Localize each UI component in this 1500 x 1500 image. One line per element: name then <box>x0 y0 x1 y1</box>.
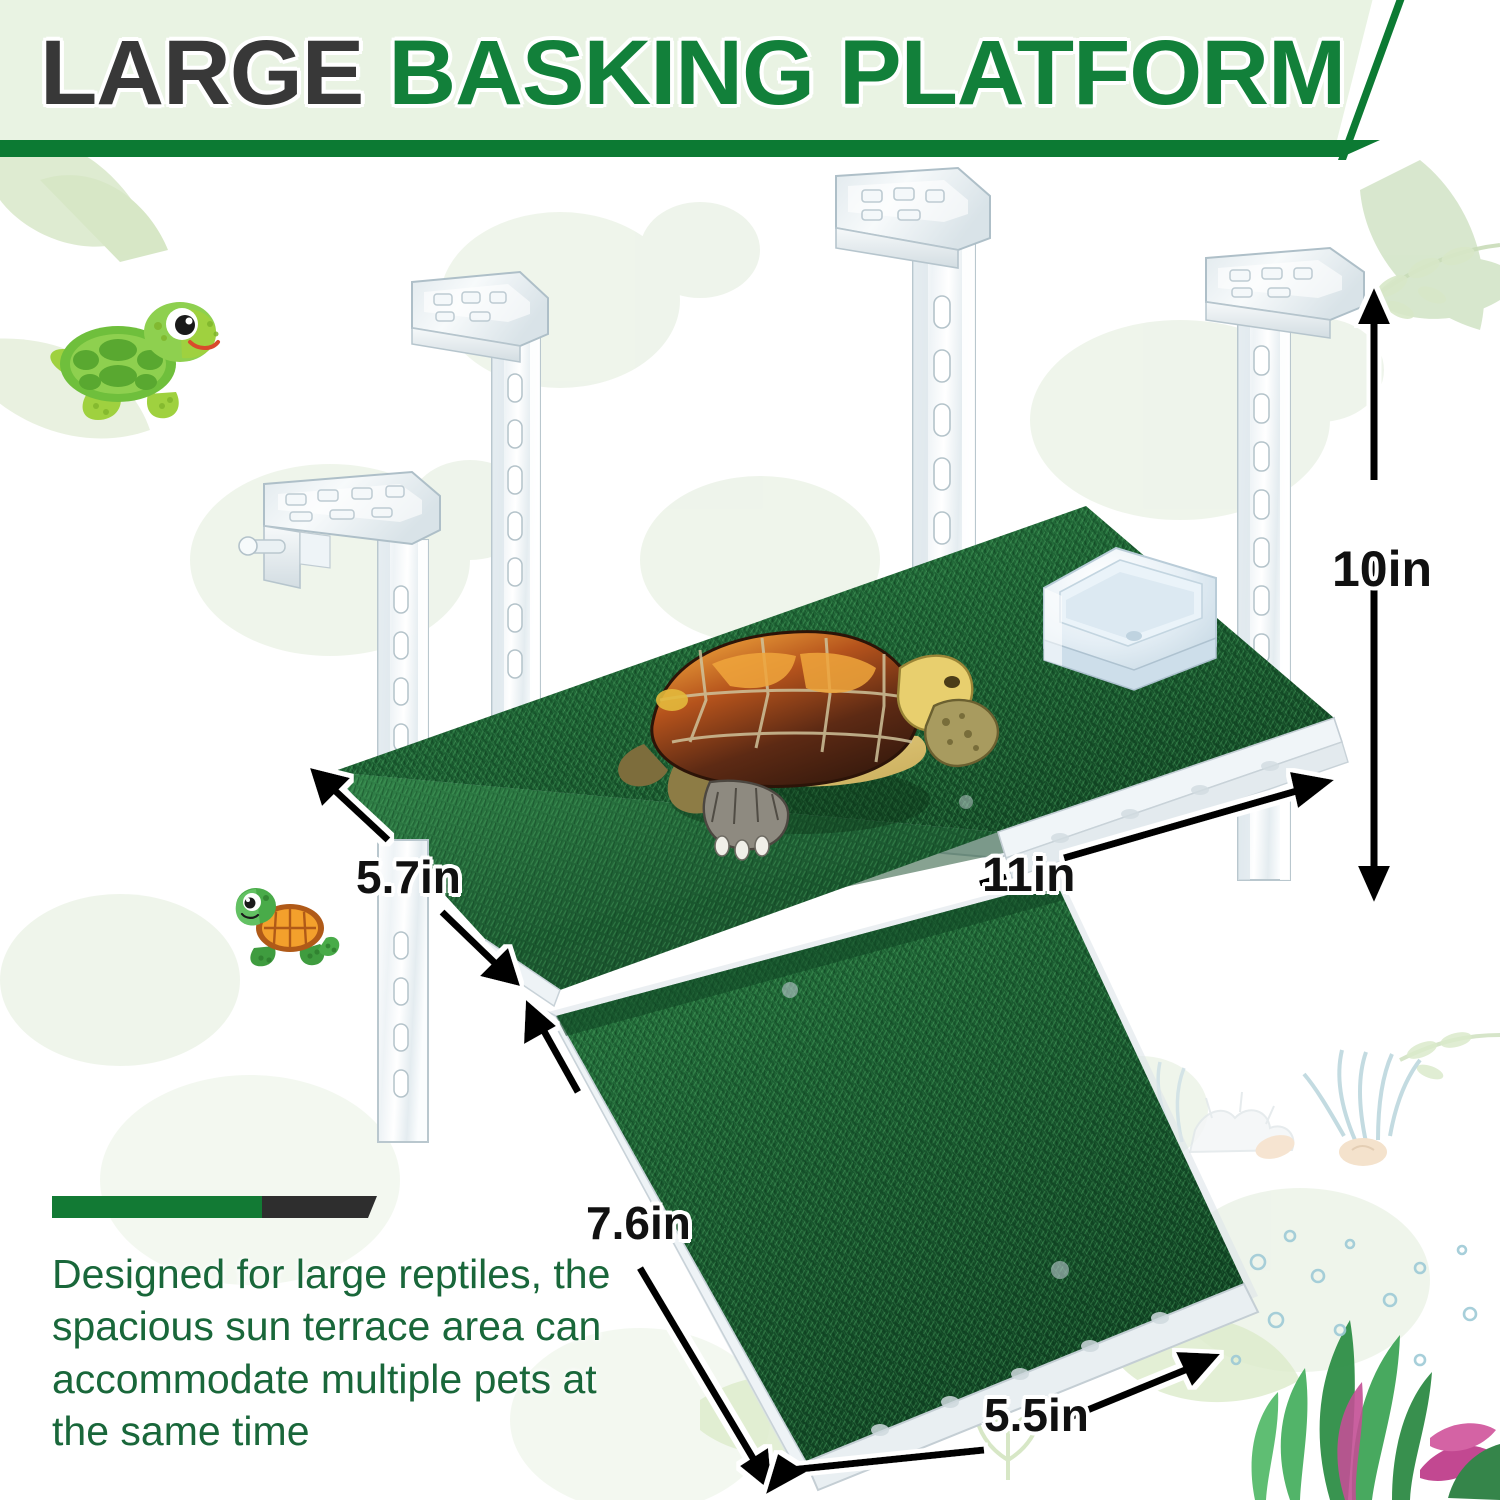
accent-bar-green <box>52 1196 262 1218</box>
dimension-label-height: 10in <box>1332 540 1432 598</box>
accent-bar-dark <box>262 1196 377 1218</box>
description-accent-bar <box>52 1196 377 1218</box>
dimension-label-platform-depth: 5.7in <box>356 850 461 904</box>
dimension-label-ramp-length: 7.6in <box>586 1196 691 1250</box>
dimension-label-ramp-width: 5.5in <box>984 1388 1089 1442</box>
dimension-arrow-platform-width <box>1064 772 1334 858</box>
description-text: Designed for large reptiles, the spaciou… <box>52 1248 652 1458</box>
infographic-canvas: LARGE BASKING PLATFORM <box>0 0 1500 1500</box>
dimension-label-platform-width: 11in <box>982 848 1075 903</box>
